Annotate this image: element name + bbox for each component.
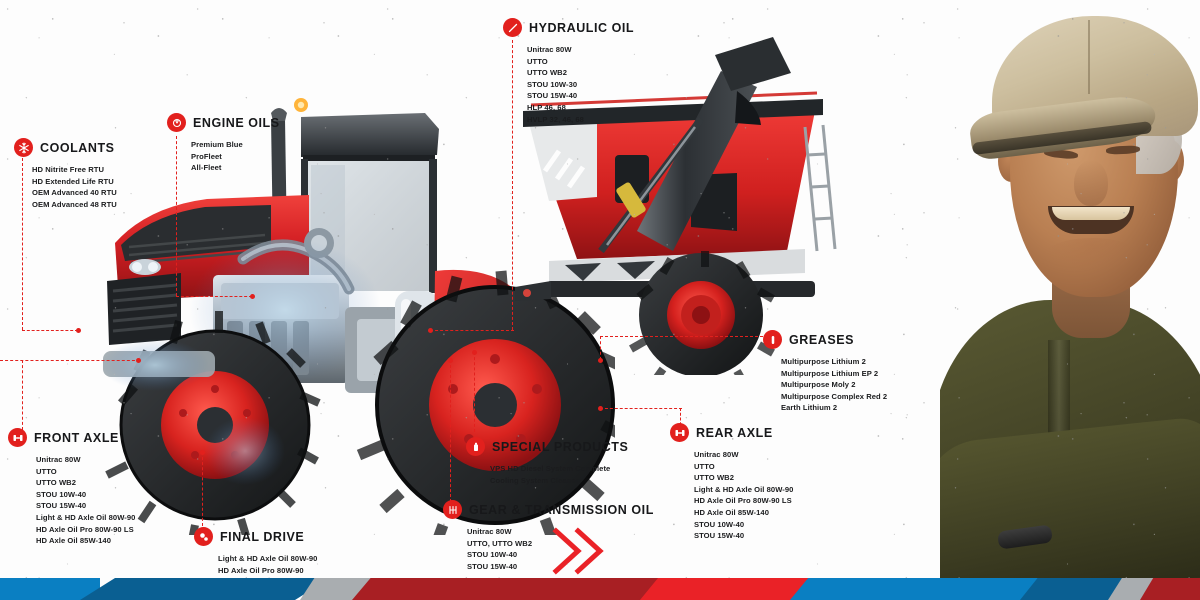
bar-segment-blue-left [0, 578, 100, 600]
callout-special-products[interactable]: SPECIAL PRODUCTS VPS HD Diesel System Co… [466, 437, 628, 486]
gear-pair-icon [194, 527, 213, 546]
callout-hydraulic-oil-list: Unitrac 80W UTTO UTTO WB2 STOU 10W-30 ST… [527, 44, 634, 125]
list-item: STOU 10W-30 [527, 79, 634, 91]
callout-final-drive-title: FINAL DRIVE [220, 530, 304, 544]
list-item: Cooling System Cleaner [490, 475, 628, 487]
leader-dot-special [472, 350, 477, 355]
transmission-icon [443, 500, 462, 519]
callout-coolants-header: COOLANTS [14, 138, 117, 157]
double-chevron-right-icon [548, 525, 612, 577]
callout-engine-oils[interactable]: ENGINE OILS Premium Blue ProFleet All-Fl… [167, 113, 280, 174]
list-item: HD Axle Oil Pro 80W-90 LS [36, 524, 135, 536]
callout-coolants-list: HD Nitrite Free RTU HD Extended Life RTU… [32, 164, 117, 210]
list-item: HVLP 32, 46, 68 [527, 114, 634, 126]
callout-hydraulic-oil-header: HYDRAULIC OIL [503, 18, 634, 37]
list-item: STOU 10W-40 [36, 489, 135, 501]
callout-special-products-list: VPS HD Diesel System Complete Cooling Sy… [490, 463, 628, 486]
callout-coolants-title: COOLANTS [40, 141, 115, 155]
farmer-crossed-arms [940, 415, 1200, 578]
list-item: STOU 10W-40 [694, 519, 793, 531]
callout-coolants[interactable]: COOLANTS HD Nitrite Free RTU HD Extended… [14, 138, 117, 210]
list-item: OEM Advanced 40 RTU [32, 187, 117, 199]
list-item: STOU 15W-40 [694, 530, 793, 542]
list-item: HD Axle Oil Pro 80W-90 [218, 565, 317, 577]
list-item: Unitrac 80W [36, 454, 135, 466]
list-item: UTTO WB2 [527, 67, 634, 79]
hydraulic-cylinder-icon [503, 18, 522, 37]
infographic-canvas: COOLANTS HD Nitrite Free RTU HD Extended… [0, 0, 1200, 600]
callout-greases-title: GREASES [789, 333, 854, 347]
axle-icon [670, 423, 689, 442]
bottom-color-bar [0, 578, 1200, 600]
farmer-nose [1074, 160, 1108, 206]
leader-dot-gear [448, 358, 453, 363]
bar-segment-dark-red [352, 578, 662, 600]
callout-front-axle[interactable]: FRONT AXLE Unitrac 80W UTTO UTTO WB2 STO… [8, 428, 135, 547]
callout-front-axle-title: FRONT AXLE [34, 431, 119, 445]
callout-rear-axle-title: REAR AXLE [696, 426, 773, 440]
callout-rear-axle-list: Unitrac 80W UTTO UTTO WB2 Light & HD Axl… [694, 449, 793, 542]
list-item: ProFleet [191, 151, 280, 163]
leader-dot-final-drive [200, 450, 205, 455]
callout-engine-oils-header: ENGINE OILS [167, 113, 280, 132]
callout-engine-oils-title: ENGINE OILS [193, 116, 280, 130]
callout-engine-oils-list: Premium Blue ProFleet All-Fleet [191, 139, 280, 174]
list-item: UTTO [36, 466, 135, 478]
callout-front-axle-header: FRONT AXLE [8, 428, 135, 447]
list-item: All-Fleet [191, 162, 280, 174]
callout-hydraulic-oil[interactable]: HYDRAULIC OIL Unitrac 80W UTTO UTTO WB2 … [503, 18, 634, 125]
list-item: Premium Blue [191, 139, 280, 151]
list-item: Light & HD Axle Oil 80W-90 [36, 512, 135, 524]
list-item: Light & HD Axle Oil 80W-90 [218, 553, 317, 565]
callout-hydraulic-oil-title: HYDRAULIC OIL [529, 21, 634, 35]
list-item: HD Axle Oil 85W-140 [694, 507, 793, 519]
axle-icon [8, 428, 27, 447]
list-item: HD Axle Oil 85W-140 [36, 535, 135, 547]
callout-gear-transmission-header: GEAR & TRANSMISSION OIL [443, 500, 654, 519]
grease-gun-icon [763, 330, 782, 349]
leader-front-axle-vertical [22, 360, 23, 430]
callout-rear-axle[interactable]: REAR AXLE Unitrac 80W UTTO UTTO WB2 Ligh… [670, 423, 793, 542]
callout-gear-transmission-title: GEAR & TRANSMISSION OIL [469, 503, 654, 517]
bar-segment-dark-blue [80, 578, 330, 600]
callout-greases-header: GREASES [763, 330, 887, 349]
list-item: HD Extended Life RTU [32, 176, 117, 188]
list-item: Unitrac 80W [527, 44, 634, 56]
oil-can-icon [167, 113, 186, 132]
farmer-chin [1044, 238, 1140, 274]
additive-bottle-icon [466, 437, 485, 456]
callout-rear-axle-header: REAR AXLE [670, 423, 793, 442]
list-item: OEM Advanced 48 RTU [32, 199, 117, 211]
leader-dot-rear-axle [598, 406, 603, 411]
bar-segment-blue-mid [790, 578, 1050, 600]
list-item: UTTO WB2 [694, 472, 793, 484]
callout-greases-list: Multipurpose Lithium 2 Multipurpose Lith… [781, 356, 887, 414]
farmer-photo [940, 0, 1200, 578]
leader-dot-coolants [76, 328, 81, 333]
list-item: UTTO [527, 56, 634, 68]
list-item: VPS HD Diesel System Complete [490, 463, 628, 475]
leader-dot-greases [598, 358, 603, 363]
callout-special-products-title: SPECIAL PRODUCTS [492, 440, 628, 454]
list-item: Light & HD Axle Oil 80W-90 [694, 484, 793, 496]
list-item: STOU 15W-40 [527, 90, 634, 102]
snowflake-icon [14, 138, 33, 157]
list-item: Earth Lithium 2 [781, 402, 887, 414]
callout-front-axle-list: Unitrac 80W UTTO UTTO WB2 STOU 10W-40 ST… [36, 454, 135, 547]
leader-dot-engine-oils [250, 294, 255, 299]
callout-final-drive-header: FINAL DRIVE [194, 527, 317, 546]
list-item: UTTO [694, 461, 793, 473]
list-item: HD Axle Oil Pro 80W-90 LS [694, 495, 793, 507]
leader-dot-hydraulic [428, 328, 433, 333]
list-item: Multipurpose Complex Red 2 [781, 391, 887, 403]
list-item: Multipurpose Lithium 2 [781, 356, 887, 368]
list-item: Multipurpose Moly 2 [781, 379, 887, 391]
list-item: Multipurpose Lithium EP 2 [781, 368, 887, 380]
leader-dot-front-axle [136, 358, 141, 363]
callout-special-products-header: SPECIAL PRODUCTS [466, 437, 628, 456]
list-item: Unitrac 80W [694, 449, 793, 461]
list-item: HD Nitrite Free RTU [32, 164, 117, 176]
list-item: HLP 46, 68 [527, 102, 634, 114]
list-item: UTTO WB2 [36, 477, 135, 489]
leader-coolants-horizontal [22, 330, 78, 331]
callout-greases[interactable]: GREASES Multipurpose Lithium 2 Multipurp… [763, 330, 887, 414]
list-item: STOU 15W-40 [36, 500, 135, 512]
farmer-teeth [1052, 207, 1130, 220]
